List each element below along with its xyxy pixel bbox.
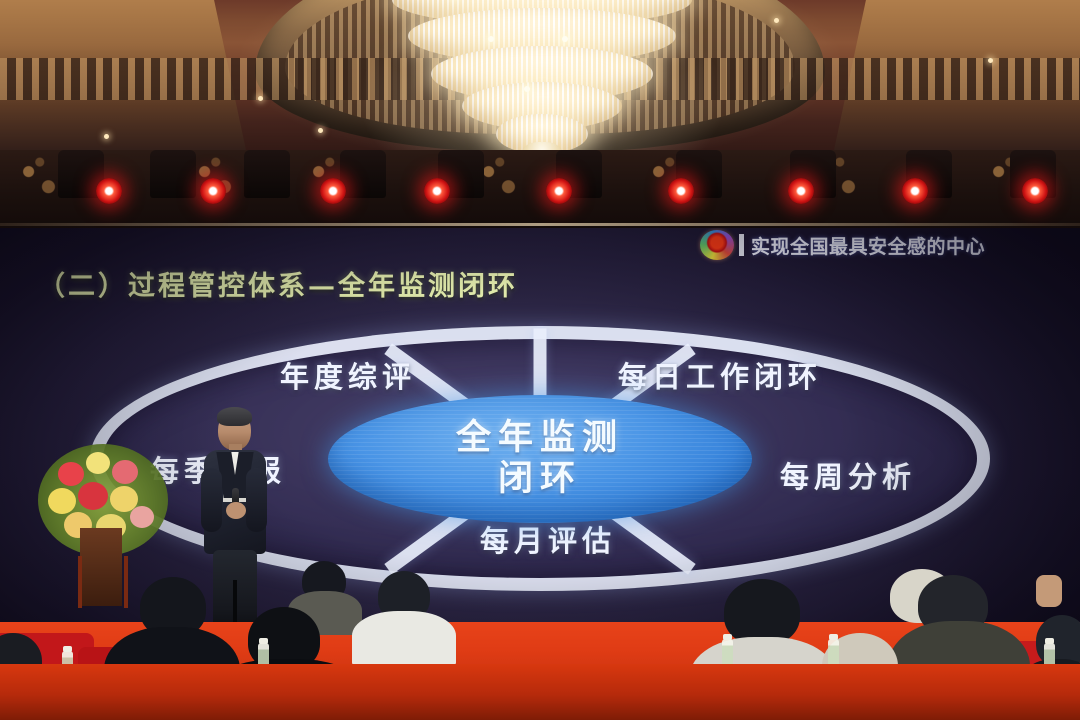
stage-light-icon [788, 178, 814, 204]
ceiling-downlight-icon [104, 134, 109, 139]
speaker-hands [226, 502, 246, 519]
stage-light-icon [1022, 178, 1048, 204]
raised-hand-icon [1036, 575, 1062, 607]
ceiling-downlight-icon [258, 96, 263, 101]
ceiling [0, 0, 1080, 165]
flower-bloom [86, 452, 110, 474]
audience-member [352, 611, 456, 667]
flower-bloom [130, 506, 154, 528]
conference-photo-scene: 实现全国最具安全感的中心 （二）过程管控体系—全年监测闭环 年度综评 每日工作闭… [0, 0, 1080, 720]
truss-rail [0, 223, 1080, 226]
flower-bloom [48, 488, 76, 514]
speaker-arm [246, 468, 267, 532]
chandelier-bulb-icon [562, 36, 568, 42]
ceiling-downlight-icon [774, 18, 779, 23]
flower-bloom [58, 462, 84, 486]
chandelier-bulb-icon [488, 36, 494, 42]
stage-light-icon [424, 178, 450, 204]
stage-light-icon [200, 178, 226, 204]
stage-light-icon [96, 178, 122, 204]
chandelier [392, 0, 692, 164]
ceiling-downlight-icon [988, 58, 993, 63]
stage-light-icon [320, 178, 346, 204]
stage-light-icon [902, 178, 928, 204]
lighting-truss [0, 150, 1080, 232]
stage-light-icon [546, 178, 572, 204]
ceiling-downlight-icon [318, 128, 323, 133]
flower-bloom [112, 460, 138, 484]
stage-apron [0, 664, 1080, 720]
stage-light-icon [668, 178, 694, 204]
audience-member [724, 579, 800, 645]
flower-bloom [78, 482, 108, 510]
speaker-hair [217, 407, 252, 426]
chandelier-bulb-icon [524, 86, 530, 92]
speaker-arm [201, 468, 222, 532]
